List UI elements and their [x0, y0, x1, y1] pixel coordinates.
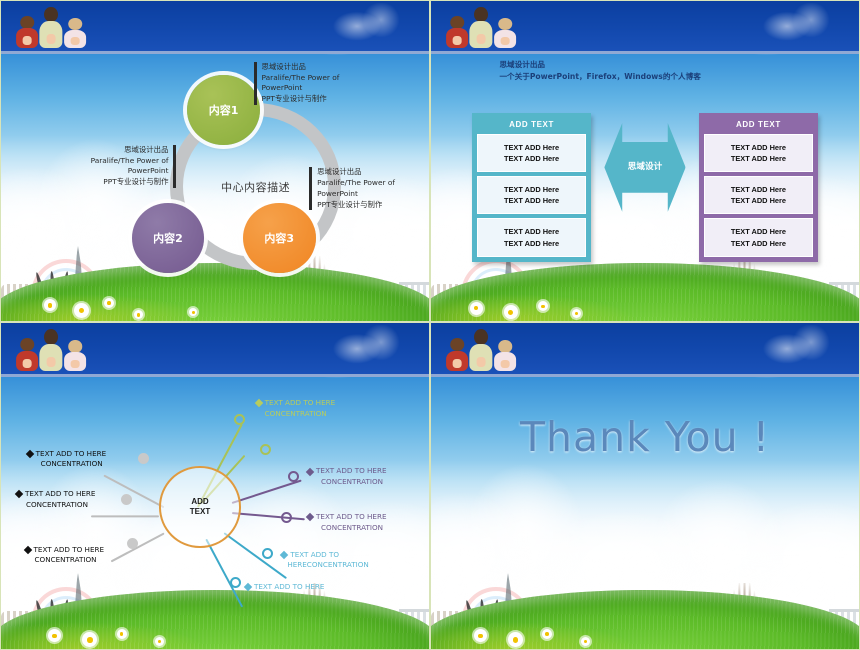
node-gray-2[interactable] — [121, 494, 132, 505]
node-green-1[interactable] — [234, 414, 245, 425]
slide-2-two-column-compare[interactable]: 思域设计出品 一个关于PowerPoint，Firefox，Windows的个人… — [430, 0, 860, 322]
label-purple-1[interactable]: TEXT ADD TO HERE CONCENTRATION — [307, 466, 387, 487]
diamond-bullet-icon — [306, 513, 314, 521]
label-line-2: CONCENTRATION — [27, 459, 107, 469]
label-purple-2[interactable]: TEXT ADD TO HERE CONCENTRATION — [307, 512, 387, 533]
node-cyan-1[interactable] — [262, 548, 273, 559]
label-green-1[interactable]: TEXT ADD TO HERE CONCENTRATION — [256, 398, 336, 419]
cycle-bubble-2[interactable]: 内容2 — [132, 203, 205, 273]
slide-3-content: ADDTEXT TEXT ADD TO HERE CONCENTRATION T… — [1, 323, 429, 649]
intro-line: 思域设计出品 — [499, 59, 773, 71]
cell-line: TEXT ADD Here — [480, 195, 584, 206]
cell-line: TEXT ADD Here — [480, 238, 584, 249]
cell-line: TEXT ADD Here — [707, 238, 811, 249]
callout-line: Paralife/The Power of — [317, 178, 430, 189]
callout-line: PowerPoint — [317, 189, 430, 200]
callout-line: Paralife/The Power of — [22, 156, 168, 167]
label-line-2: CONCENTRATION — [25, 555, 105, 565]
cell-line: TEXT ADD Here — [707, 226, 811, 237]
intro-line: 一个关于PowerPoint，Firefox，Windows的个人博客 — [499, 71, 773, 83]
label-line-2: CONCENTRATION — [16, 500, 96, 510]
slide-4-content: Thank You ! — [431, 323, 859, 649]
cell-line: TEXT ADD Here — [480, 184, 584, 195]
cycle-bubble-3[interactable]: 内容3 — [243, 203, 316, 273]
right-column-panel[interactable]: ADD TEXT TEXT ADD Here TEXT ADD Here TEX… — [699, 113, 819, 262]
callout-line: 思域设计出品 — [262, 62, 412, 73]
callout-line: PPT专业设计与制作 — [262, 94, 412, 105]
slide-1-content: 中心内容描述 内容1 内容2 内容3 思域设计出品 Paralife/The P… — [1, 1, 429, 321]
label-cyan-1[interactable]: TEXT ADD TO HERECONCENTRATION — [281, 550, 368, 571]
label-line-1: TEXT ADD TO HERE — [265, 398, 336, 408]
label-line-1: TEXT ADD TO HERE — [25, 489, 96, 499]
slide-1-three-circle-cycle[interactable]: 中心内容描述 内容1 内容2 内容3 思域设计出品 Paralife/The P… — [0, 0, 430, 322]
left-cell-1[interactable]: TEXT ADD Here TEXT ADD Here — [477, 134, 587, 172]
callout-top-right[interactable]: 思域设计出品 Paralife/The Power of PowerPoint … — [254, 62, 412, 105]
label-black-2[interactable]: TEXT ADD TO HERE CONCENTRATION — [16, 489, 96, 510]
callout-line: PPT专业设计与制作 — [22, 177, 168, 188]
slide-2-intro-text: 思域设计出品 一个关于PowerPoint，Firefox，Windows的个人… — [499, 59, 773, 83]
arrow-label: 思域设计 — [624, 162, 666, 173]
slide-thumbnail-grid: 中心内容描述 内容1 内容2 内容3 思域设计出品 Paralife/The P… — [0, 0, 860, 650]
left-column-header: ADD TEXT — [475, 116, 589, 134]
label-line-2: HERECONCENTRATION — [281, 560, 368, 570]
spoke-purple-1 — [232, 480, 302, 505]
label-line-1: TEXT ADD TO HERE — [34, 545, 105, 555]
right-cell-2[interactable]: TEXT ADD Here TEXT ADD Here — [704, 176, 814, 214]
label-line-1: TEXT ADD TO HERE — [316, 512, 387, 522]
callout-line: PowerPoint — [262, 83, 412, 94]
spoke-cyan-2 — [205, 539, 243, 608]
label-line-2: CONCENTRATION — [307, 477, 387, 487]
left-cell-3[interactable]: TEXT ADD Here TEXT ADD Here — [477, 218, 587, 256]
node-purple-2[interactable] — [281, 512, 292, 523]
node-gray-1[interactable] — [138, 453, 149, 464]
callout-line: PowerPoint — [22, 166, 168, 177]
hub-line-2: TEXT — [190, 507, 210, 516]
label-line-2: CONCENTRATION — [256, 409, 336, 419]
diamond-bullet-icon — [25, 449, 33, 457]
node-cyan-2[interactable] — [230, 577, 241, 588]
thank-you-title: Thank You ! — [520, 413, 770, 461]
diamond-bullet-icon — [15, 490, 23, 498]
spoke-gray-1 — [103, 474, 165, 508]
callout-line: Paralife/The Power of — [262, 73, 412, 84]
callout-line: 思域设计出品 — [22, 145, 168, 156]
cycle-bubble-1[interactable]: 内容1 — [187, 75, 260, 145]
cell-line: TEXT ADD Here — [707, 195, 811, 206]
node-green-2[interactable] — [260, 444, 271, 455]
cell-line: TEXT ADD Here — [480, 142, 584, 153]
diamond-bullet-icon — [254, 399, 262, 407]
spoke-gray-2 — [91, 515, 159, 517]
callout-line: 思域设计出品 — [317, 167, 430, 178]
hub-line-1: ADD — [191, 497, 208, 506]
cell-line: TEXT ADD Here — [707, 153, 811, 164]
label-black-3[interactable]: TEXT ADD TO HERE CONCENTRATION — [25, 545, 105, 566]
spoke-cyan-1 — [223, 532, 287, 579]
callout-line: PPT专业设计与制作 — [317, 200, 430, 211]
hub-circle[interactable]: ADDTEXT — [159, 466, 240, 548]
cell-line: TEXT ADD Here — [480, 153, 584, 164]
spoke-purple-2 — [232, 512, 305, 521]
cell-line: TEXT ADD Here — [480, 226, 584, 237]
slide-3-radial-spokes[interactable]: ADDTEXT TEXT ADD TO HERE CONCENTRATION T… — [0, 322, 430, 650]
diamond-bullet-icon — [280, 551, 288, 559]
label-black-1[interactable]: TEXT ADD TO HERE CONCENTRATION — [27, 449, 107, 470]
spoke-gray-3 — [110, 532, 164, 562]
diamond-bullet-icon — [244, 583, 252, 591]
label-line-1: TEXT ADD TO HERE — [254, 582, 325, 592]
slide-2-content: 思域设计出品 一个关于PowerPoint，Firefox，Windows的个人… — [431, 1, 859, 321]
slide-4-thank-you[interactable]: Thank You ! — [430, 322, 860, 650]
right-cell-3[interactable]: TEXT ADD Here TEXT ADD Here — [704, 218, 814, 256]
diamond-bullet-icon — [306, 467, 314, 475]
diamond-bullet-icon — [23, 546, 31, 554]
callout-right[interactable]: 思域设计出品 Paralife/The Power of PowerPoint … — [309, 167, 430, 210]
label-line-1: TEXT ADD TO — [290, 550, 339, 560]
left-column-panel[interactable]: ADD TEXT TEXT ADD Here TEXT ADD Here TEX… — [472, 113, 592, 262]
callout-left[interactable]: 思域设计出品 Paralife/The Power of PowerPoint … — [22, 145, 176, 188]
cell-line: TEXT ADD Here — [707, 142, 811, 153]
label-line-2: CONCENTRATION — [307, 523, 387, 533]
hub-label: ADDTEXT — [190, 497, 210, 518]
cell-line: TEXT ADD Here — [707, 184, 811, 195]
label-cyan-2[interactable]: TEXT ADD TO HERE — [245, 582, 325, 593]
double-arrow-graphic: 思域设计 — [604, 115, 685, 221]
right-cell-1[interactable]: TEXT ADD Here TEXT ADD Here — [704, 134, 814, 172]
label-line-1: TEXT ADD TO HERE — [316, 466, 387, 476]
label-line-1: TEXT ADD TO HERE — [36, 449, 107, 459]
right-column-header: ADD TEXT — [702, 116, 816, 134]
left-cell-2[interactable]: TEXT ADD Here TEXT ADD Here — [477, 176, 587, 214]
